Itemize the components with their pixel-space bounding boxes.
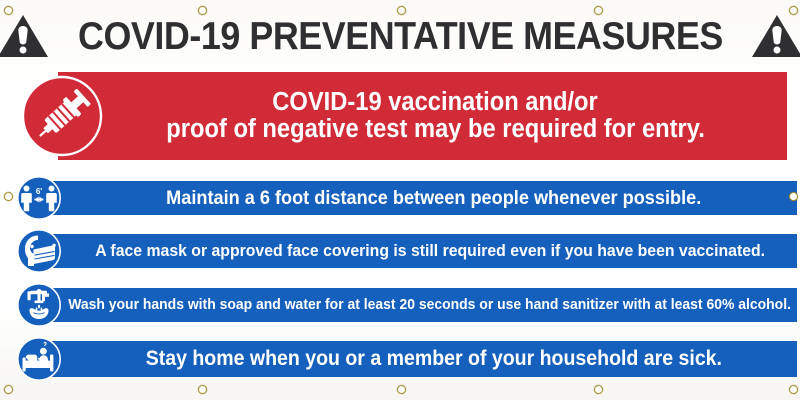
grommet — [4, 385, 13, 394]
grommet — [789, 6, 798, 15]
grommet — [397, 385, 406, 394]
distance-icon-wrap: 6' — [16, 175, 62, 221]
message-band-vaccination: COVID-19 vaccination and/or proof of neg… — [12, 72, 787, 160]
message-band-distance: Maintain a 6 foot distance between peopl… — [10, 181, 787, 215]
message-band-mask: A face mask or approved face covering is… — [10, 234, 787, 268]
mask-bar: A face mask or approved face covering is… — [52, 234, 797, 268]
grommet — [397, 6, 406, 15]
stay-home-bar: Stay home when you or a member of your h… — [52, 341, 797, 377]
vaccination-text-line1: COVID-19 vaccination and/or — [273, 89, 599, 116]
message-band-handwashing: Wash your hands with soap and water for … — [10, 288, 787, 322]
mask-text: A face mask or approved face covering is… — [96, 242, 766, 260]
warning-triangle-icon — [750, 13, 800, 59]
vaccination-text-line2: proof of negative test may be required f… — [166, 116, 705, 143]
banner-header: COVID-19 PREVENTATIVE MEASURES — [0, 8, 800, 64]
message-band-stay-home: Stay home when you or a member of your h… — [10, 341, 787, 377]
page-title: COVID-19 PREVENTATIVE MEASURES — [78, 17, 723, 56]
social-distance-icon: 6' — [16, 175, 62, 221]
syringe-icon — [20, 74, 104, 158]
face-mask-icon — [16, 228, 62, 274]
distance-bar: Maintain a 6 foot distance between peopl… — [52, 181, 797, 215]
mask-icon-wrap — [16, 228, 62, 274]
handwashing-bar: Wash your hands with soap and water for … — [52, 288, 797, 322]
handwashing-faucet-icon — [16, 282, 62, 328]
vaccination-icon-wrap — [20, 74, 104, 158]
grommet — [594, 6, 603, 15]
grommet — [594, 385, 603, 394]
grommet — [198, 385, 207, 394]
grommet — [789, 192, 798, 201]
vaccination-bar: COVID-19 vaccination and/or proof of neg… — [58, 72, 787, 160]
person-in-bed-icon — [16, 336, 62, 382]
grommet — [198, 6, 207, 15]
handwashing-icon-wrap — [16, 282, 62, 328]
distance-text: Maintain a 6 foot distance between peopl… — [166, 188, 701, 209]
stay-home-text: Stay home when you or a member of your h… — [145, 348, 721, 370]
stay-home-icon-wrap — [16, 336, 62, 382]
handwashing-text: Wash your hands with soap and water for … — [68, 297, 791, 313]
distance-icon-label: 6' — [36, 187, 42, 196]
covid-preventative-measures-banner: COVID-19 PREVENTATIVE MEASURES COVID-19 … — [0, 0, 800, 400]
grommet — [4, 192, 13, 201]
warning-triangle-icon — [0, 13, 50, 59]
grommet — [4, 6, 13, 15]
grommet — [789, 385, 798, 394]
